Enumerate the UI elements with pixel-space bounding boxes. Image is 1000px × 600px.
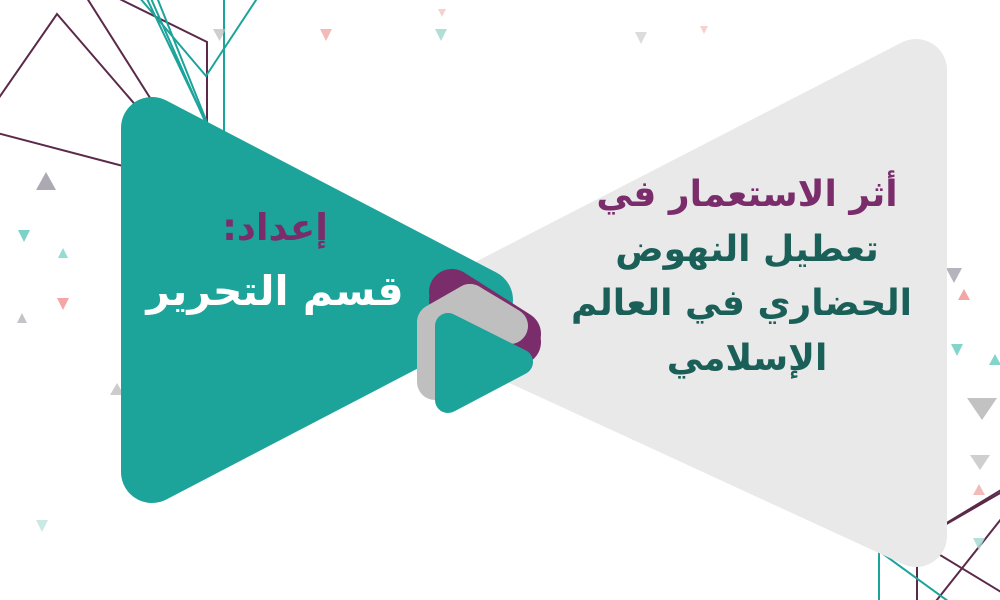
slide-canvas: إعداد: قسم التحرير أثر الاستعمار في تعطي… (0, 0, 1000, 600)
title-block: أثر الاستعمار في تعطيل النهوض الحضاري في… (582, 168, 912, 387)
credit-label: إعداد: (130, 205, 420, 251)
credit-block: إعداد: قسم التحرير (130, 205, 420, 316)
title-line-2: تعطيل النهوض (582, 223, 912, 278)
title-line-1: أثر الاستعمار في (582, 168, 912, 223)
title-line-4: الإسلامي (582, 332, 912, 387)
credit-name: قسم التحرير (130, 267, 420, 316)
title-line-3: الحضاري في العالم (582, 277, 912, 332)
